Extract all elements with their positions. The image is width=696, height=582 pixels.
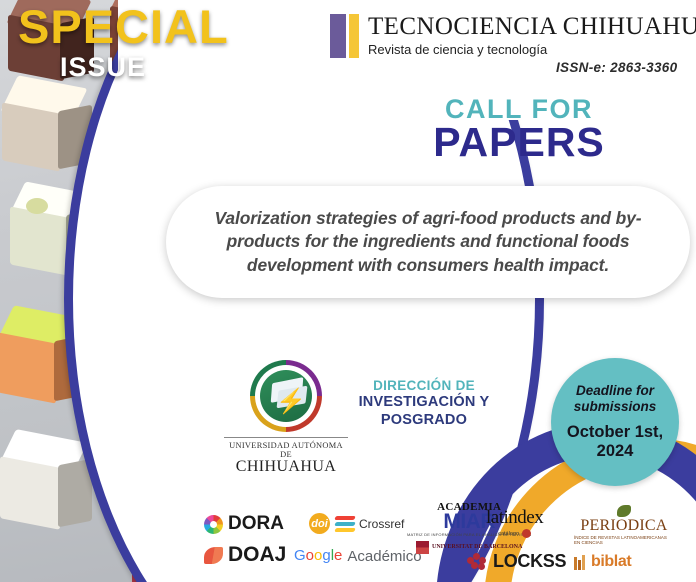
special-issue-title-pill: Valorization strategies of agri-food pro… — [166, 186, 690, 298]
dora-logo[interactable]: DORA — [204, 513, 284, 535]
dora-pinwheel-icon — [204, 515, 223, 534]
special-label: SPECIAL — [18, 4, 229, 50]
biblat-books-icon — [574, 555, 588, 570]
latindex-dot-icon — [522, 529, 531, 538]
doaj-logo[interactable]: DOAJ — [204, 543, 286, 567]
biblat-logo[interactable]: biblat — [574, 553, 631, 571]
google-wordmark-icon: Google — [294, 547, 342, 565]
papers-label: PAPERS — [384, 122, 654, 163]
masthead-purple-bar-icon — [330, 14, 346, 58]
latindex-sublabel: catálogo — [498, 531, 519, 537]
crossref-mark-icon — [335, 516, 355, 532]
deadline-date: October 1st, 2024 — [567, 423, 663, 461]
google-scholar-logo[interactable]: Google Académico — [294, 547, 422, 565]
crossref-logo[interactable]: doi Crossref — [309, 513, 404, 534]
latindex-label: latindex — [486, 507, 543, 529]
crossref-label: Crossref — [359, 517, 404, 531]
doaj-leaf-icon — [204, 547, 223, 564]
doaj-label: DOAJ — [228, 543, 286, 567]
indexing-logos: DORA DOAJ doi Crossref Google Académico … — [204, 503, 674, 579]
dora-label: DORA — [228, 513, 284, 535]
periodica-sublabel: ÍNDICE DE REVISTAS LATINOAMERICANAS EN C… — [574, 535, 674, 545]
office-line-1: DIRECCIÓN DE — [344, 378, 504, 394]
uach-line-2: CHIHUAHUA — [224, 459, 348, 476]
journal-issn: ISSN-e: 2863-3360 — [556, 60, 677, 75]
lockss-logo[interactable]: LOCKSS — [467, 551, 566, 572]
office-line-3: POSGRADO — [344, 412, 504, 430]
journal-subtitle: Revista de ciencia y tecnología — [368, 42, 696, 57]
uach-crest-icon — [250, 360, 322, 432]
deadline-date-line-2: 2024 — [597, 442, 634, 460]
uach-logo: UNIVERSIDAD AUTÓNOMA DE CHIHUAHUA — [224, 360, 348, 476]
deadline-date-line-1: October 1st, — [567, 423, 663, 441]
journal-masthead: TECNOCIENCIA CHIHUAHUA Revista de cienci… — [330, 14, 696, 58]
ub-shield-icon — [416, 541, 429, 554]
latindex-logo[interactable]: latindex catálogo — [486, 507, 543, 538]
issue-label: ISSUE — [60, 52, 229, 83]
research-office-block: DIRECCIÓN DE INVESTIGACIÓN Y POSGRADO — [344, 378, 504, 430]
periodica-label: PERIODICA — [580, 517, 667, 535]
doi-icon: doi — [309, 513, 330, 534]
poster-canvas: SPECIAL ISSUE TECNOCIENCIA CHIHUAHUA Rev… — [0, 0, 696, 582]
office-line-2: INVESTIGACIÓN Y — [344, 394, 504, 412]
masthead-gold-bar-icon — [349, 14, 359, 58]
biblat-label: biblat — [591, 553, 631, 571]
call-for-papers-heading: CALL FOR PAPERS — [384, 96, 654, 163]
periodica-logo[interactable]: PERIODICA ÍNDICE DE REVISTAS LATINOAMERI… — [574, 505, 674, 545]
uach-line-1: UNIVERSIDAD AUTÓNOMA DE — [224, 437, 348, 459]
ub-label: UNIVERSITAT DE BARCELONA — [432, 544, 522, 551]
special-issue-title: Valorization strategies of agri-food pro… — [192, 207, 664, 276]
lockss-grape-icon — [467, 553, 489, 571]
lockss-label: LOCKSS — [493, 551, 566, 572]
deadline-badge: Deadline for submissions October 1st, 20… — [551, 358, 679, 486]
special-issue-badge: SPECIAL ISSUE — [18, 4, 229, 83]
journal-title: TECNOCIENCIA CHIHUAHUA — [368, 14, 696, 39]
periodica-leaf-icon — [617, 505, 631, 517]
deadline-label: Deadline for submissions — [551, 383, 679, 415]
